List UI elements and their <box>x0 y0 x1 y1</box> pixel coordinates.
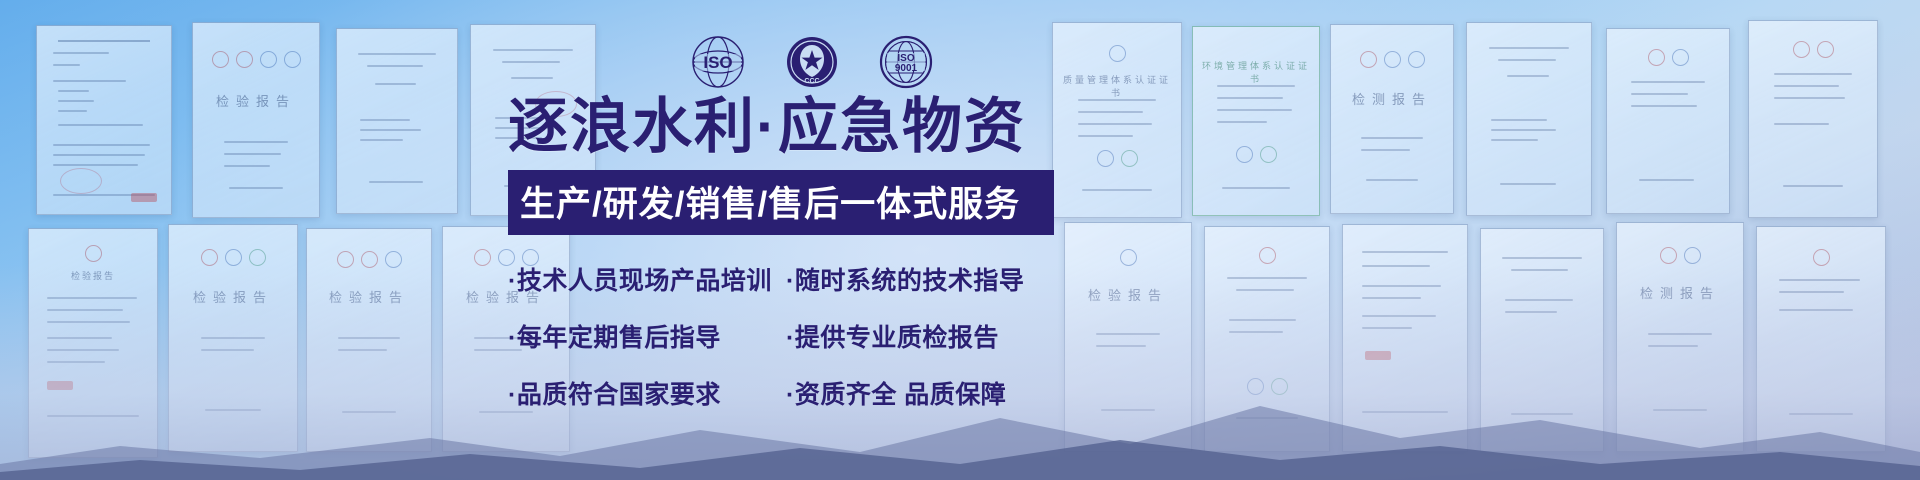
feature-item: ·每年定期售后指导 <box>508 318 786 354</box>
iso-globe-badge-icon: ISO <box>690 34 746 90</box>
banner-subtitle-bar: 生产/研发/销售/售后一体式服务 <box>508 170 1054 235</box>
feature-item: ·品质符合国家要求 <box>508 375 786 411</box>
svg-text:9001: 9001 <box>895 63 918 74</box>
feature-list: ·技术人员现场产品培训 ·随时系统的技术指导 ·每年定期售后指导 ·提供专业质检… <box>508 261 1078 411</box>
svg-text:CCC: CCC <box>804 78 819 85</box>
feature-item: ·技术人员现场产品培训 <box>508 261 786 297</box>
svg-text:ISO: ISO <box>703 53 732 72</box>
headline-block: 逐浪水利·应急物资 生产/研发/销售/售后一体式服务 ·技术人员现场产品培训 ·… <box>508 96 1078 411</box>
feature-item: ·随时系统的技术指导 <box>786 261 1078 297</box>
iso9001-badge-icon: ISO 9001 <box>878 34 934 90</box>
certification-badge-row: ISO CCC <box>690 34 934 90</box>
ccc-badge-icon: CCC <box>784 34 840 90</box>
banner-title: 逐浪水利·应急物资 <box>508 96 1078 157</box>
promo-banner: 检验报告 <box>0 0 1920 480</box>
feature-item: ·资质齐全 品质保障 <box>786 375 1078 411</box>
feature-item: ·提供专业质检报告 <box>786 318 1078 354</box>
